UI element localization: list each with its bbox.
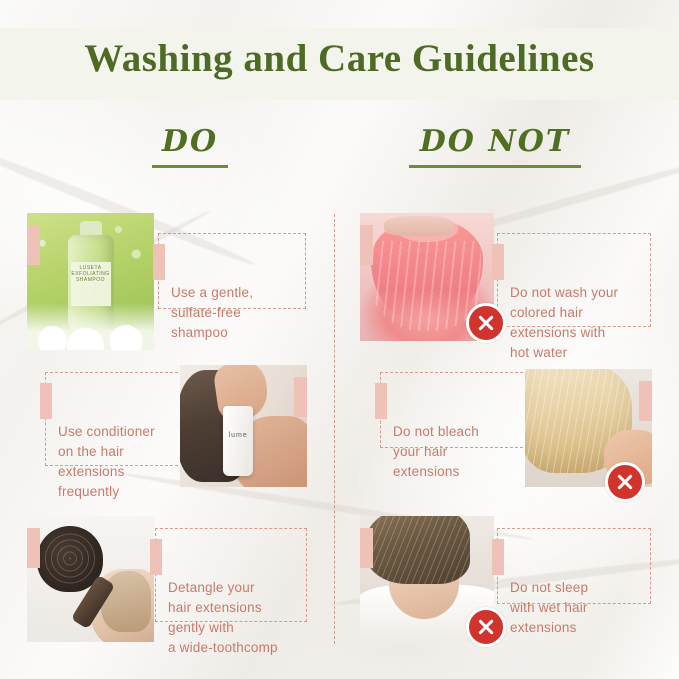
photo-accent-tab <box>294 377 307 417</box>
conditioner-tube: lume <box>223 406 253 476</box>
do-photo-conditioner: lume <box>180 365 307 487</box>
no-symbol-icon-1 <box>466 303 506 343</box>
donot-card-2-text: Do not bleach your hair extensions <box>393 424 479 479</box>
photo-accent-tab <box>27 225 40 265</box>
photo-accent-tab <box>639 381 652 421</box>
photo-accent-tab <box>360 225 373 265</box>
donot-label: DO NOT <box>420 124 570 159</box>
wet-hair <box>365 516 470 584</box>
photo-accent-tab <box>27 528 40 568</box>
donot-card-2: Do not bleach your hair extensions <box>380 372 528 448</box>
column-heading-do: DO <box>60 124 320 168</box>
bottle-label: LUSETA EXFOLIATING SHAMPOO <box>71 262 111 306</box>
do-card-3-text: Detangle your hair extensions gently wit… <box>168 580 278 655</box>
do-photo-brush <box>27 516 154 642</box>
column-divider <box>334 214 335 644</box>
no-symbol-icon-3 <box>466 607 506 647</box>
foam <box>27 303 154 350</box>
donot-underline <box>409 165 581 168</box>
donot-card-1: Do not wash your colored hair extensions… <box>497 233 651 327</box>
do-photo-shampoo: LUSETA EXFOLIATING SHAMPOO <box>27 213 154 350</box>
card-accent-tab <box>492 244 504 280</box>
photo-accent-tab <box>360 528 373 568</box>
do-underline <box>152 165 228 168</box>
card-accent-tab <box>150 539 162 575</box>
do-card-3: Detangle your hair extensions gently wit… <box>155 528 307 622</box>
do-card-1: Use a gentle, sulfate-free shampoo <box>158 233 306 309</box>
do-label: DO <box>162 124 218 159</box>
no-symbol-icon-2 <box>605 462 645 502</box>
do-card-1-text: Use a gentle, sulfate-free shampoo <box>171 285 253 340</box>
page-title: Washing and Care Guidelines <box>0 36 679 81</box>
do-card-2: Use conditioner on the hair extensions f… <box>45 372 193 466</box>
card-accent-tab <box>492 539 504 575</box>
care-guidelines-page: Washing and Care Guidelines DO DO NOT LU… <box>0 0 679 679</box>
hand <box>384 216 454 236</box>
donot-card-1-text: Do not wash your colored hair extensions… <box>510 285 618 360</box>
donot-card-3-text: Do not sleep with wet hair extensions <box>510 580 588 635</box>
column-heading-donot: DO NOT <box>345 124 645 168</box>
card-accent-tab <box>153 244 165 280</box>
do-card-2-text: Use conditioner on the hair extensions f… <box>58 424 155 499</box>
card-accent-tab <box>375 383 387 419</box>
conditioner-tube-label: lume <box>223 432 253 439</box>
card-accent-tab <box>40 383 52 419</box>
donot-card-3: Do not sleep with wet hair extensions <box>497 528 651 604</box>
hair-strands <box>373 241 480 331</box>
